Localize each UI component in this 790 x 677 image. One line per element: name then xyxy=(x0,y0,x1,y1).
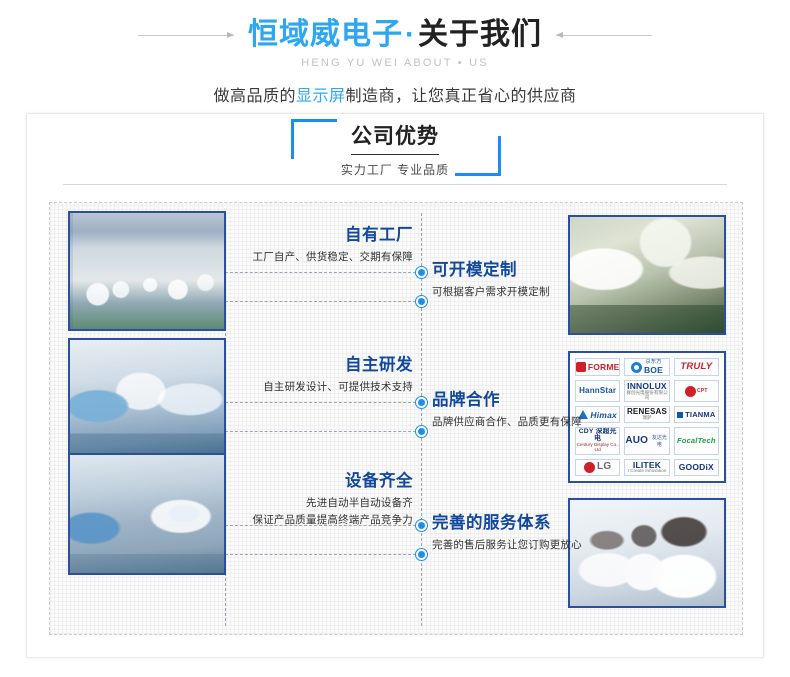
connector-node-5 xyxy=(416,520,427,531)
feature-desc-line: 保证产品质量提高终端产品竞争力 xyxy=(230,512,413,528)
feature-desc-line: 工厂自产、供货稳定、交期有保障 xyxy=(235,249,413,265)
brand-logo-innolux: INNOLUX 群创光电股份有限公司 xyxy=(624,380,669,402)
brand-logo-cdy: CDY 深超光电 Century Display Co., Ltd xyxy=(575,427,620,454)
feature-service-system: 完善的服务体系 完善的售后服务让您订购更放心 xyxy=(432,513,602,554)
bracket-bottom-right-icon xyxy=(455,136,501,176)
feature-title: 自主研发 xyxy=(235,355,413,376)
brand-label-cn: 群创光电股份有限公司 xyxy=(625,391,668,401)
connector-node-1 xyxy=(416,267,427,278)
brand-label: TRULY xyxy=(680,362,712,372)
brand-logo-tianma: TIANMA xyxy=(674,406,719,423)
section-title-wrap: 公司优势 实力工厂 专业品质 xyxy=(27,114,763,178)
page-title-separator: · xyxy=(403,18,418,51)
brand-label-cn: 瑞萨 xyxy=(642,416,651,421)
feature-title: 设备齐全 xyxy=(230,471,413,492)
title-rule-right xyxy=(556,35,652,36)
connector-hline-6 xyxy=(225,554,421,555)
advantages-panel: 公司优势 实力工厂 专业品质 xyxy=(26,113,764,658)
connector-hline-3 xyxy=(225,402,421,403)
tagline-prefix: 做高品质的 xyxy=(213,88,296,105)
research-lab-photo-image xyxy=(70,340,224,454)
section-divider xyxy=(63,184,727,185)
feature-desc-line: 自主研发设计、可提供技术支持 xyxy=(235,379,413,395)
connector-hline-2 xyxy=(225,301,421,302)
feature-title: 品牌合作 xyxy=(432,390,602,411)
forme-mark-icon xyxy=(576,362,586,372)
feature-brand-cooperation: 品牌合作 品牌供应商合作、品质更有保障 xyxy=(432,390,602,431)
section-title: 公司优势 xyxy=(351,120,439,155)
brand-label: BOE xyxy=(644,366,663,375)
brand-logo-boe: 京东方 BOE xyxy=(624,358,669,376)
brand-label: LG xyxy=(597,462,611,472)
feature-mold-customization: 可开模定制 可根据客户需求开模定制 xyxy=(432,260,602,301)
connector-hline-4 xyxy=(225,431,421,432)
page-subtitle-en: HENG YU WEI ABOUT • US xyxy=(0,57,790,69)
feature-own-factory: 自有工厂 工厂自产、供货稳定、交期有保障 xyxy=(235,225,413,266)
tagline-highlight: 显示屏 xyxy=(296,88,346,105)
feature-title: 完善的服务体系 xyxy=(432,513,602,534)
boe-mark-icon xyxy=(631,362,642,373)
tagline-suffix: 制造商，让您真正省心的供应商 xyxy=(346,88,577,105)
brand-label: FocalTech xyxy=(677,437,716,445)
brand-label: TIANMA xyxy=(685,411,715,419)
factory-line-photo-image xyxy=(70,213,224,329)
equipment-photo-image xyxy=(70,455,224,573)
brand-logo-truly: TRULY xyxy=(674,358,719,376)
brand-label-cn: I Create Innovation xyxy=(628,469,667,474)
feature-desc-line: 可根据客户需求开模定制 xyxy=(432,284,602,300)
connector-hline-1 xyxy=(225,272,421,273)
factory-line-photo xyxy=(68,211,226,331)
section-subtitle: 实力工厂 专业品质 xyxy=(27,161,763,178)
page-header: 恒域威电子·关于我们 HENG YU WEI ABOUT • US 做高品质的显… xyxy=(0,0,790,106)
title-row: 恒域威电子·关于我们 xyxy=(0,18,790,53)
brand-logo-cpt: CPT xyxy=(674,380,719,402)
feature-self-rnd: 自主研发 自主研发设计、可提供技术支持 xyxy=(235,355,413,396)
lg-mark-icon xyxy=(584,462,595,473)
page-title-section: 关于我们 xyxy=(418,18,542,51)
connector-node-6 xyxy=(416,549,427,560)
brand-label: GOODiX xyxy=(679,463,714,472)
brand-label-cn: Century Display Co., Ltd xyxy=(576,443,619,453)
cpt-mark-icon xyxy=(685,386,696,397)
advantages-grid: FORME 京东方 BOE TRULY HannStar xyxy=(49,202,743,635)
connector-node-3 xyxy=(416,397,427,408)
feature-full-equipment: 设备齐全 先进自动半自动设备齐 保证产品质量提高终端产品竞争力 xyxy=(230,471,413,528)
brand-label: AUO xyxy=(625,436,648,446)
connector-node-4 xyxy=(416,426,427,437)
connector-node-2 xyxy=(416,296,427,307)
bracket-top-left-icon xyxy=(291,119,337,159)
feature-desc-line: 先进自动半自动设备齐 xyxy=(230,495,413,511)
feature-title: 可开模定制 xyxy=(432,260,602,281)
page-title: 恒域威电子·关于我们 xyxy=(248,18,542,53)
research-lab-photo xyxy=(68,338,226,456)
brand-logo-lg: LG xyxy=(575,459,620,476)
tianma-mark-icon xyxy=(677,412,683,418)
brand-logo-forme: FORME xyxy=(575,358,620,376)
feature-desc-line: 完善的售后服务让您订购更放心 xyxy=(432,537,602,553)
title-rule-left xyxy=(138,35,234,36)
brand-logo-renesas: RENESAS 瑞萨 xyxy=(624,406,669,423)
brand-logo-ilitek: ILITEK I Create Innovation xyxy=(624,459,669,476)
brand-label-cn: 友达光电 xyxy=(650,434,669,448)
feature-title: 自有工厂 xyxy=(235,225,413,246)
feature-desc-line: 品牌供应商合作、品质更有保障 xyxy=(432,414,602,430)
page-tagline: 做高品质的显示屏制造商，让您真正省心的供应商 xyxy=(0,82,790,106)
page-title-brand: 恒域威电子 xyxy=(248,18,403,51)
section-heading: 公司优势 实力工厂 专业品质 xyxy=(27,114,763,186)
brand-label: CDY 深超光电 xyxy=(576,429,619,443)
brand-logo-focaltech: FocalTech xyxy=(674,427,719,454)
brand-logo-goodix: GOODiX xyxy=(674,459,719,476)
brand-logo-auo: AUO 友达光电 xyxy=(624,427,669,454)
brand-label: FORME xyxy=(588,363,620,372)
equipment-photo xyxy=(68,453,226,575)
brand-label: CPT xyxy=(697,389,708,394)
